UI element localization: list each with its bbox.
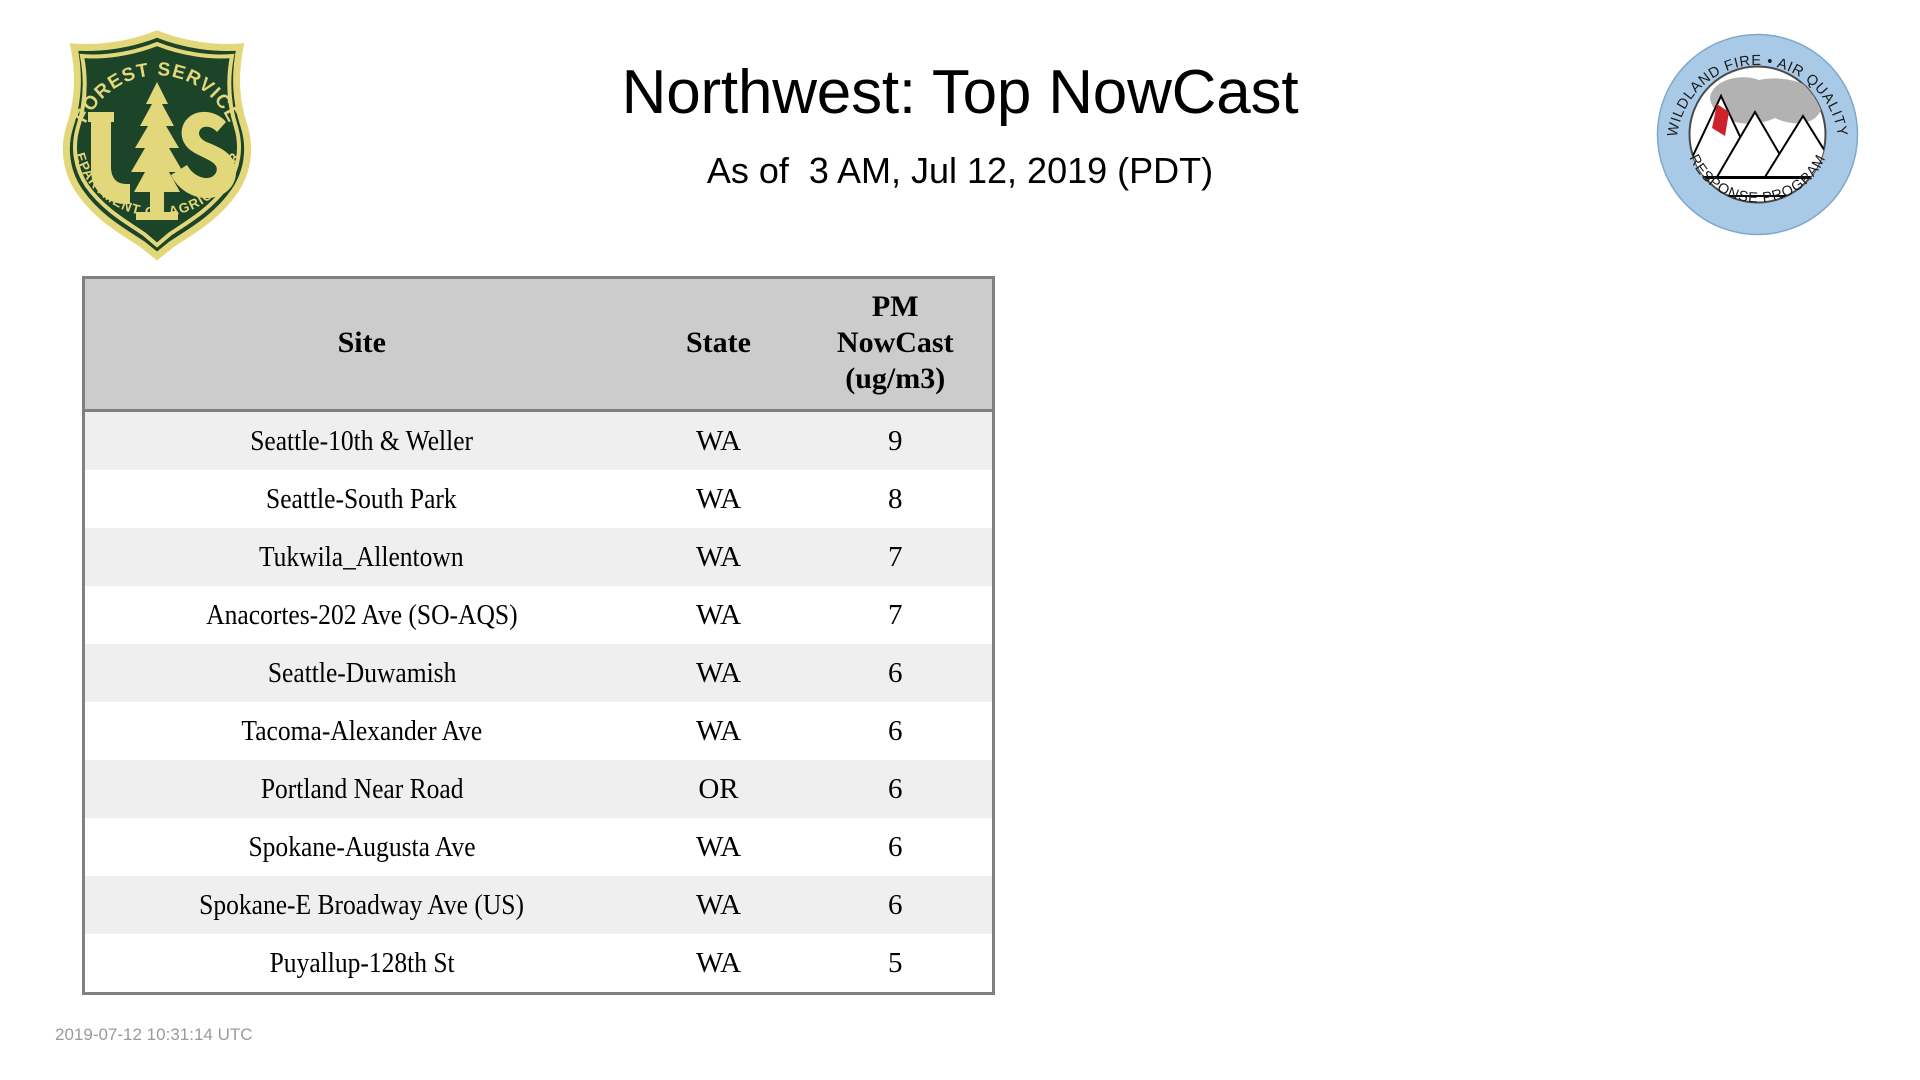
site-label: Spokane-E Broadway Ave (US) [199, 888, 524, 922]
table-body: Seattle-10th & WellerWA9Seattle-South Pa… [84, 411, 994, 994]
cell-pm-nowcast: 6 [799, 818, 994, 876]
column-header-pm-nowcast: PM NowCast (ug/m3) [799, 278, 994, 411]
cell-site: Anacortes-202 Ave (SO-AQS) [84, 586, 639, 644]
nowcast-table-container: Site State PM NowCast (ug/m3) Seattle-10… [82, 276, 992, 995]
cell-pm-nowcast: 9 [799, 411, 994, 471]
cell-state: WA [639, 934, 799, 994]
table-row: Anacortes-202 Ave (SO-AQS)WA7 [84, 586, 994, 644]
table-header: Site State PM NowCast (ug/m3) [84, 278, 994, 411]
site-label: Tukwila_Allentown [259, 540, 464, 574]
site-label: Seattle-Duwamish [267, 656, 456, 690]
cell-pm-nowcast: 6 [799, 760, 994, 818]
site-label: Anacortes-202 Ave (SO-AQS) [206, 598, 517, 632]
table-header-row: Site State PM NowCast (ug/m3) [84, 278, 994, 411]
cell-state: WA [639, 411, 799, 471]
cell-site: Seattle-Duwamish [84, 644, 639, 702]
cell-pm-nowcast: 6 [799, 644, 994, 702]
site-label: Tacoma-Alexander Ave [241, 714, 482, 748]
cell-pm-nowcast: 6 [799, 702, 994, 760]
column-header-state: State [639, 278, 799, 411]
page-title: Northwest: Top NowCast [0, 0, 1920, 130]
site-label: Portland Near Road [260, 772, 463, 806]
cell-pm-nowcast: 5 [799, 934, 994, 994]
nowcast-table: Site State PM NowCast (ug/m3) Seattle-10… [82, 276, 995, 995]
site-label: Seattle-10th & Weller [250, 424, 473, 458]
cell-state: WA [639, 702, 799, 760]
title-block: Northwest: Top NowCast As of 3 AM, Jul 1… [0, 0, 1920, 192]
cell-state: OR [639, 760, 799, 818]
cell-site: Puyallup-128th St [84, 934, 639, 994]
cell-state: WA [639, 528, 799, 586]
cell-state: WA [639, 818, 799, 876]
column-header-pm-line-3: (ug/m3) [845, 362, 945, 395]
cell-site: Portland Near Road [84, 760, 639, 818]
cell-site: Tukwila_Allentown [84, 528, 639, 586]
column-header-site: Site [84, 278, 639, 411]
cell-pm-nowcast: 7 [799, 586, 994, 644]
cell-state: WA [639, 470, 799, 528]
generated-timestamp: 2019-07-12 10:31:14 UTC [55, 1025, 253, 1045]
site-label: Spokane-Augusta Ave [248, 830, 475, 864]
table-row: Spokane-E Broadway Ave (US)WA6 [84, 876, 994, 934]
cell-pm-nowcast: 8 [799, 470, 994, 528]
page-subtitle: As of 3 AM, Jul 12, 2019 (PDT) [0, 130, 1920, 192]
table-row: Seattle-South ParkWA8 [84, 470, 994, 528]
table-row: Tacoma-Alexander AveWA6 [84, 702, 994, 760]
site-label: Puyallup-128th St [269, 946, 454, 980]
cell-pm-nowcast: 6 [799, 876, 994, 934]
cell-site: Tacoma-Alexander Ave [84, 702, 639, 760]
site-label: Seattle-South Park [266, 482, 457, 516]
cell-state: WA [639, 586, 799, 644]
table-row: Puyallup-128th StWA5 [84, 934, 994, 994]
cell-pm-nowcast: 7 [799, 528, 994, 586]
cell-site: Seattle-South Park [84, 470, 639, 528]
cell-site: Spokane-Augusta Ave [84, 818, 639, 876]
table-row: Seattle-DuwamishWA6 [84, 644, 994, 702]
column-header-pm-line-1: PM [872, 290, 919, 323]
table-row: Seattle-10th & WellerWA9 [84, 411, 994, 471]
table-row: Portland Near RoadOR6 [84, 760, 994, 818]
cell-site: Spokane-E Broadway Ave (US) [84, 876, 639, 934]
cell-site: Seattle-10th & Weller [84, 411, 639, 471]
column-header-pm-line-2: NowCast [837, 326, 954, 359]
cell-state: WA [639, 876, 799, 934]
table-row: Tukwila_AllentownWA7 [84, 528, 994, 586]
cell-state: WA [639, 644, 799, 702]
table-row: Spokane-Augusta AveWA6 [84, 818, 994, 876]
